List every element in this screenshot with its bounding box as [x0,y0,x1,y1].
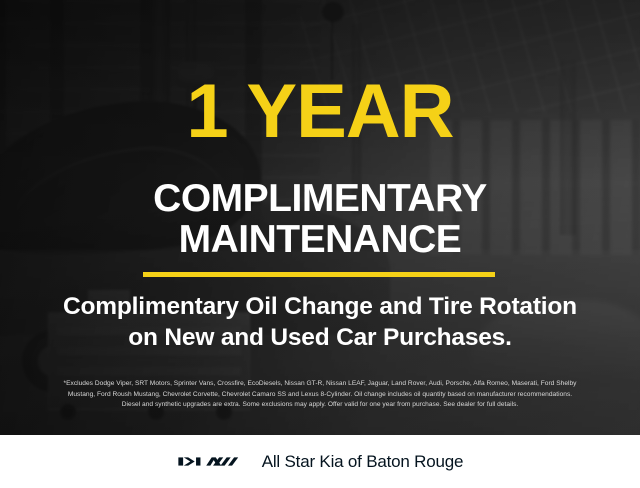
offer-description-line-2: on New and Used Car Purchases. [18,322,622,353]
disclaimer-line-2: Mustang, Ford Roush Mustang, Chevrolet C… [14,390,626,401]
disclaimer-line-1: *Excludes Dodge Viper, SRT Motors, Sprin… [14,379,626,390]
offer-description-line-1: Complimentary Oil Change and Tire Rotati… [63,293,577,320]
headline-subtitle: COMPLIMENTARY MAINTENANCE [0,178,640,260]
disclaimer-line-3: Diesel and synthetic upgrades are extra.… [14,400,626,411]
headline-year: 1 YEAR [0,74,640,150]
headline-subtitle-line-1: COMPLIMENTARY [153,177,487,220]
ad-content: 1 YEAR COMPLIMENTARY MAINTENANCE Complim… [0,0,640,435]
dealer-footer-bar: All Star Kia of Baton Rouge [0,435,640,488]
headline-subtitle-line-2: MAINTENANCE [0,219,640,260]
dealer-name: All Star Kia of Baton Rouge [262,452,464,472]
disclaimer-text: *Excludes Dodge Viper, SRT Motors, Sprin… [14,379,626,411]
offer-description: Complimentary Oil Change and Tire Rotati… [18,291,622,353]
yellow-divider-rule [143,272,495,277]
kia-logo-icon [177,453,245,470]
promotional-banner-ad: 1 YEAR COMPLIMENTARY MAINTENANCE Complim… [0,0,640,488]
